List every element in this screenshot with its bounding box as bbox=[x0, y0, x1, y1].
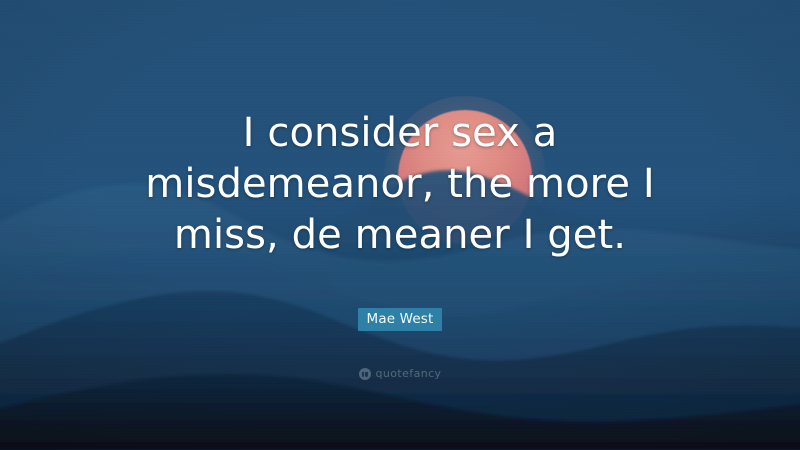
watermark-inner: quotefancy bbox=[359, 368, 442, 380]
watermark-brand: quotefancy bbox=[376, 368, 442, 380]
watermark: quotefancy bbox=[0, 365, 800, 384]
author-row: Mae West bbox=[0, 308, 800, 331]
wallpaper-canvas: I consider sex a misdemeanor, the more I… bbox=[0, 0, 800, 450]
quote-text: I consider sex a misdemeanor, the more I… bbox=[0, 108, 800, 261]
quote-badge-icon bbox=[359, 368, 371, 380]
quote-line-1: I consider sex a bbox=[60, 108, 740, 159]
quote-line-2: misdemeanor, the more I bbox=[60, 159, 740, 210]
quote-line-3: miss, de meaner I get. bbox=[60, 210, 740, 261]
author-name: Mae West bbox=[358, 308, 443, 331]
